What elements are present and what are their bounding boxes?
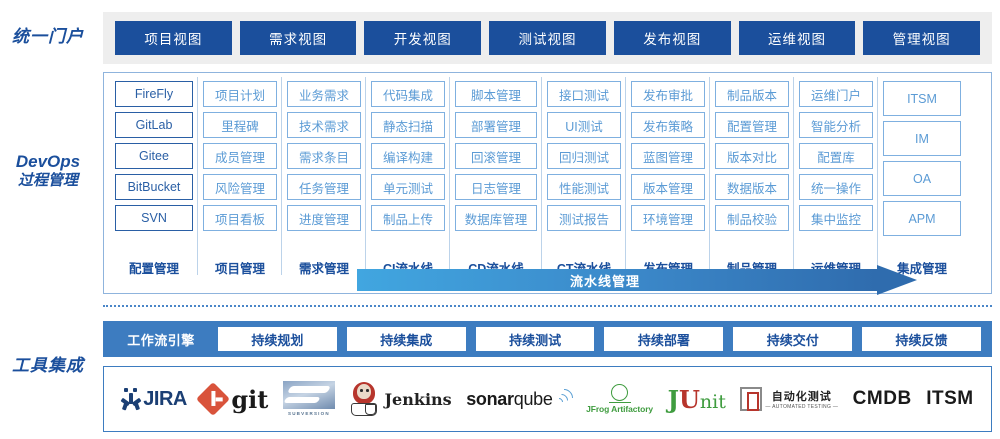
devops-capability-cell[interactable]: 静态扫描 <box>371 112 445 138</box>
devops-capability-cell[interactable]: 风险管理 <box>203 174 277 200</box>
jenkins-logo[interactable]: Jenkins <box>349 376 451 422</box>
portal-view-bar: 项目视图需求视图开发视图测试视图发布视图运维视图管理视图 <box>103 12 992 64</box>
portal-view-button-7[interactable]: 管理视图 <box>863 21 980 55</box>
devops-capability-cell[interactable]: 部署管理 <box>455 112 537 138</box>
devops-capability-cell[interactable]: 制品版本 <box>715 81 789 107</box>
devops-column-5: 脚本管理部署管理回滚管理日志管理数据库管理CD流水线 <box>450 81 542 257</box>
automated-testing-logo[interactable]: 自动化测试 — AUTOMATED TESTING — <box>740 376 838 422</box>
jfrog-logo-label: JFrog Artifactory <box>586 404 653 414</box>
subversion-icon: SUBVERSION <box>283 381 335 417</box>
devops-capability-cell[interactable]: 回归测试 <box>547 143 621 169</box>
sonarqube-logo-label: sonarqube <box>466 389 552 410</box>
sonarqube-logo[interactable]: sonarqube <box>466 376 571 422</box>
devops-capability-cell[interactable]: Gitee <box>115 143 193 169</box>
itsm-logo-label: ITSM <box>926 388 973 410</box>
devops-capability-cell[interactable]: ITSM <box>883 81 961 116</box>
devops-column-group: FireFlyGitLabGiteeBitBucketSVN配置管理项目计划里程… <box>104 73 991 257</box>
devops-capability-cell[interactable]: 集中监控 <box>799 205 873 231</box>
workflow-stage-1[interactable]: 持续规划 <box>218 327 337 351</box>
devops-column-title: 需求管理 <box>282 258 366 277</box>
devops-column-8: 制品版本配置管理版本对比数据版本制品校验制品管理 <box>710 81 794 257</box>
portal-view-button-3[interactable]: 开发视图 <box>364 21 481 55</box>
devops-capability-cell[interactable]: 编译构建 <box>371 143 445 169</box>
row-label-tools: 工具集成 <box>0 356 96 376</box>
row-label-devops-cn: 过程管理 <box>0 172 96 189</box>
devops-capability-cell[interactable]: 性能测试 <box>547 174 621 200</box>
jira-logo-label: JIRA <box>143 388 187 411</box>
automated-testing-label-en: — AUTOMATED TESTING — <box>765 404 838 410</box>
workflow-stage-group: 持续规划持续集成持续测试持续部署持续交付持续反馈 <box>213 327 986 351</box>
git-icon <box>196 382 230 416</box>
devops-capability-cell[interactable]: 版本对比 <box>715 143 789 169</box>
portal-view-button-5[interactable]: 发布视图 <box>614 21 731 55</box>
devops-capability-cell[interactable]: 脚本管理 <box>455 81 537 107</box>
git-logo[interactable]: git <box>201 376 268 422</box>
junit-label-rest: nit <box>700 391 726 413</box>
devops-capability-cell[interactable]: 版本管理 <box>631 174 705 200</box>
devops-capability-cell[interactable]: 项目看板 <box>203 205 277 231</box>
devops-capability-cell[interactable]: GitLab <box>115 112 193 138</box>
devops-capability-cell[interactable]: 运维门户 <box>799 81 873 107</box>
git-logo-label: git <box>231 385 268 414</box>
cmdb-logo-label: CMDB <box>853 388 912 410</box>
devops-capability-cell[interactable]: 单元测试 <box>371 174 445 200</box>
devops-column-title: 项目管理 <box>198 258 282 277</box>
jfrog-artifactory-logo[interactable]: JFrog Artifactory <box>586 376 653 422</box>
devops-capability-cell[interactable]: 接口测试 <box>547 81 621 107</box>
subversion-logo[interactable]: SUBVERSION <box>283 376 335 422</box>
junit-label-u: U <box>679 385 700 414</box>
junit-logo-label: JUnit <box>668 385 726 414</box>
devops-capability-cell[interactable]: 配置库 <box>799 143 873 169</box>
devops-column-9: 运维门户智能分析配置库统一操作集中监控运维管理 <box>794 81 878 257</box>
devops-capability-cell[interactable]: 配置管理 <box>715 112 789 138</box>
devops-capability-cell[interactable]: 智能分析 <box>799 112 873 138</box>
devops-capability-cell[interactable]: 制品上传 <box>371 205 445 231</box>
tool-logo-strip: JIRA git SUBVERSION Jenkins sonarqube <box>103 366 992 432</box>
subversion-logo-label: SUBVERSION <box>285 411 333 416</box>
workflow-stage-4[interactable]: 持续部署 <box>604 327 723 351</box>
devops-capability-cell[interactable]: 数据版本 <box>715 174 789 200</box>
devops-capability-cell[interactable]: 发布审批 <box>631 81 705 107</box>
devops-capability-cell[interactable]: 环境管理 <box>631 205 705 231</box>
jfrog-bar-icon <box>609 402 631 404</box>
devops-capability-cell[interactable]: 数据库管理 <box>455 205 537 231</box>
junit-logo[interactable]: JUnit <box>668 376 726 422</box>
portal-view-button-4[interactable]: 测试视图 <box>489 21 606 55</box>
devops-capability-cell[interactable]: 进度管理 <box>287 205 361 231</box>
row-label-devops-en: DevOps <box>0 152 96 172</box>
devops-capability-cell[interactable]: SVN <box>115 205 193 231</box>
devops-column-2: 项目计划里程碑成员管理风险管理项目看板项目管理 <box>198 81 282 257</box>
itsm-logo[interactable]: ITSM <box>926 376 973 422</box>
pipeline-flow-arrow-label: 流水线管理 <box>570 271 640 290</box>
automated-testing-label-cn: 自动化测试 <box>772 388 832 404</box>
row-label-devops: DevOps 过程管理 <box>0 152 96 189</box>
devops-capability-cell[interactable]: OA <box>883 161 961 196</box>
workflow-stage-2[interactable]: 持续集成 <box>347 327 466 351</box>
devops-capability-cell[interactable]: FireFly <box>115 81 193 107</box>
pipeline-flow-arrow-body: 流水线管理 <box>357 269 877 291</box>
devops-capability-cell[interactable]: 发布策略 <box>631 112 705 138</box>
devops-column-4: 代码集成静态扫描编译构建单元测试制品上传CI流水线 <box>366 81 450 257</box>
devops-capability-cell[interactable]: 技术需求 <box>287 112 361 138</box>
devops-column-7: 发布审批发布策略蓝图管理版本管理环境管理发布管理 <box>626 81 710 257</box>
devops-capability-cell[interactable]: 业务需求 <box>287 81 361 107</box>
row-label-portal: 统一门户 <box>0 27 96 47</box>
devops-process-panel: FireFlyGitLabGiteeBitBucketSVN配置管理项目计划里程… <box>103 72 992 294</box>
portal-view-button-1[interactable]: 项目视图 <box>115 21 232 55</box>
portal-view-button-2[interactable]: 需求视图 <box>240 21 357 55</box>
devops-column-3: 业务需求技术需求需求条目任务管理进度管理需求管理 <box>282 81 366 257</box>
workflow-engine-label: 工作流引擎 <box>109 330 213 349</box>
devops-capability-cell[interactable]: 需求条目 <box>287 143 361 169</box>
pipeline-flow-arrow-head <box>877 265 917 295</box>
workflow-stage-6[interactable]: 持续反馈 <box>862 327 981 351</box>
cmdb-logo[interactable]: CMDB <box>853 376 912 422</box>
devops-capability-cell[interactable]: 制品校验 <box>715 205 789 231</box>
devops-capability-cell[interactable]: 统一操作 <box>799 174 873 200</box>
junit-label-j: J <box>668 385 679 414</box>
devops-capability-cell[interactable]: 测试报告 <box>547 205 621 231</box>
devops-capability-cell[interactable]: 成员管理 <box>203 143 277 169</box>
jenkins-icon <box>349 381 379 417</box>
jira-icon <box>121 388 141 410</box>
portal-view-button-6[interactable]: 运维视图 <box>739 21 856 55</box>
jira-logo[interactable]: JIRA <box>121 376 187 422</box>
automated-testing-icon <box>740 387 762 411</box>
devops-capability-cell[interactable]: 里程碑 <box>203 112 277 138</box>
devops-capability-cell[interactable]: BitBucket <box>115 174 193 200</box>
devops-capability-cell[interactable]: APM <box>883 201 961 236</box>
pipeline-flow-arrow: 流水线管理 <box>357 269 917 291</box>
devops-platform-diagram: 统一门户 DevOps 过程管理 工具集成 项目视图需求视图开发视图测试视图发布… <box>0 0 1000 439</box>
devops-capability-cell[interactable]: 回滚管理 <box>455 143 537 169</box>
devops-column-1: FireFlyGitLabGiteeBitBucketSVN配置管理 <box>110 81 198 257</box>
devops-capability-cell[interactable]: IM <box>883 121 961 156</box>
devops-capability-cell[interactable]: 任务管理 <box>287 174 361 200</box>
sonarqube-label-bold: sonar <box>466 389 514 409</box>
devops-capability-cell[interactable]: 代码集成 <box>371 81 445 107</box>
sonarqube-waves-icon <box>554 389 572 409</box>
workflow-stage-5[interactable]: 持续交付 <box>733 327 852 351</box>
devops-column-6: 接口测试UI测试回归测试性能测试测试报告CT流水线 <box>542 81 626 257</box>
devops-capability-cell[interactable]: 项目计划 <box>203 81 277 107</box>
devops-capability-cell[interactable]: 蓝图管理 <box>631 143 705 169</box>
devops-column-10: ITSMIMOAAPM集成管理 <box>878 81 966 257</box>
devops-column-title: 配置管理 <box>110 258 198 277</box>
workflow-engine-bar: 工作流引擎 持续规划持续集成持续测试持续部署持续交付持续反馈 <box>103 321 992 357</box>
devops-capability-cell[interactable]: 日志管理 <box>455 174 537 200</box>
devops-capability-cell[interactable]: UI测试 <box>547 112 621 138</box>
sonarqube-label-light: qube <box>514 389 553 409</box>
jenkins-logo-label: Jenkins <box>384 390 451 409</box>
section-divider <box>103 305 992 307</box>
jfrog-ring-icon <box>611 384 628 401</box>
workflow-stage-3[interactable]: 持续测试 <box>476 327 595 351</box>
